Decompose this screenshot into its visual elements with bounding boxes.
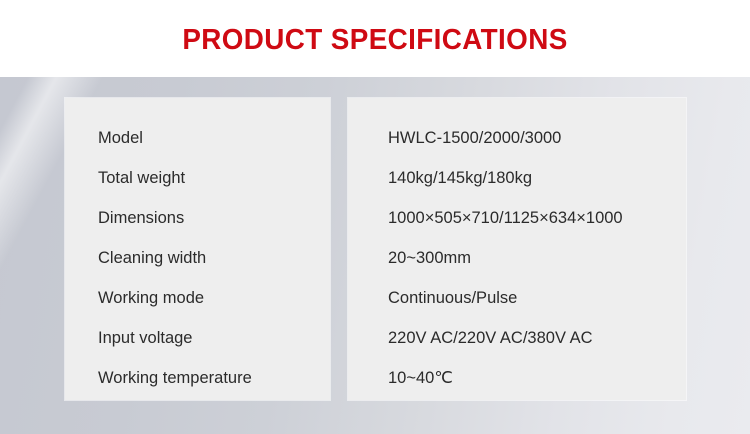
spec-label-row: Working temperature (65, 358, 330, 398)
spec-value-row: HWLC-1500/2000/3000 (348, 118, 686, 158)
spec-value-row: Continuous/Pulse (348, 278, 686, 318)
spec-value-row: 1000×505×710/1125×634×1000 (348, 198, 686, 238)
spec-label-row: Dimensions (65, 198, 330, 238)
spec-value-row: 10~40℃ (348, 358, 686, 398)
spec-label-row: Input voltage (65, 318, 330, 358)
spec-labels-panel: Model Total weight Dimensions Cleaning w… (65, 98, 330, 400)
spec-label-row: Total weight (65, 158, 330, 198)
spec-label-row: Working mode (65, 278, 330, 318)
spec-values-panel: HWLC-1500/2000/3000 140kg/145kg/180kg 10… (348, 98, 686, 400)
spec-label-row: Model (65, 118, 330, 158)
spec-value-row: 140kg/145kg/180kg (348, 158, 686, 198)
header-band: PRODUCT SPECIFICATIONS (0, 0, 750, 77)
spec-label-list: Model Total weight Dimensions Cleaning w… (65, 118, 330, 398)
spec-label-row: Cleaning width (65, 238, 330, 278)
page-title: PRODUCT SPECIFICATIONS (15, 24, 735, 56)
product-specifications-page: PRODUCT SPECIFICATIONS Model Total weigh… (0, 0, 750, 434)
spec-value-row: 20~300mm (348, 238, 686, 278)
spec-value-row: 220V AC/220V AC/380V AC (348, 318, 686, 358)
spec-value-list: HWLC-1500/2000/3000 140kg/145kg/180kg 10… (348, 118, 686, 398)
